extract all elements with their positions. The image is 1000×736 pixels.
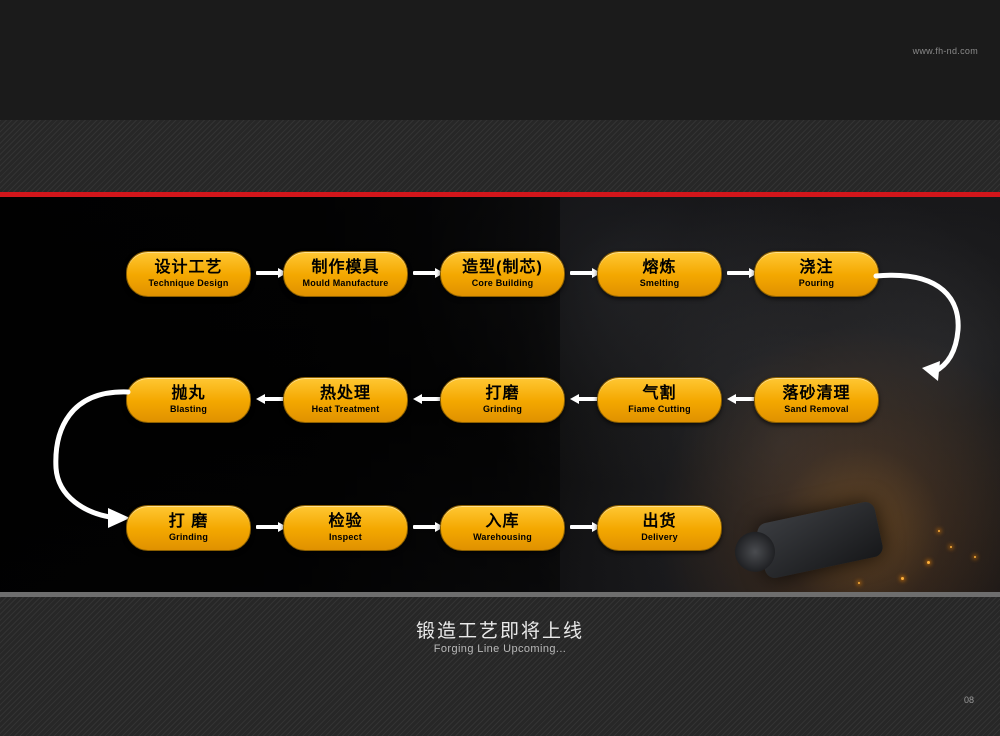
- flow-node-flame-cutting[interactable]: 气割 Fiame Cutting: [597, 377, 722, 423]
- node-label-cn: 熔炼: [642, 260, 676, 276]
- site-url: www.fh-nd.com: [913, 46, 978, 56]
- node-label-cn: 热处理: [320, 386, 371, 402]
- top-band: www.fh-nd.com: [0, 0, 1000, 120]
- spark-icon: [974, 556, 976, 558]
- node-label-cn: 检验: [328, 514, 362, 530]
- node-label-cn: 打磨: [485, 386, 519, 402]
- node-label-en: Delivery: [641, 533, 678, 542]
- spark-icon: [950, 546, 952, 548]
- node-label-cn: 出货: [642, 514, 676, 530]
- node-label-en: Fiame Cutting: [628, 405, 691, 414]
- flow-node-inspect[interactable]: 检验 Inspect: [283, 505, 408, 551]
- hatch-band-top: [0, 120, 1000, 192]
- node-label-cn: 落砂清理: [782, 386, 850, 402]
- node-label-en: Warehousing: [473, 533, 532, 542]
- flow-node-grinding-row2[interactable]: 打磨 Grinding: [440, 377, 565, 423]
- flow-node-core-building[interactable]: 造型(制芯) Core Building: [440, 251, 565, 297]
- flow-node-warehousing[interactable]: 入库 Warehousing: [440, 505, 565, 551]
- node-label-cn: 入库: [485, 514, 519, 530]
- slide: www.fh-nd.com 设计工艺 Technique Design 制作模具…: [0, 0, 1000, 736]
- node-label-en: Grinding: [169, 533, 208, 542]
- node-label-en: Mould Manufacture: [303, 279, 389, 288]
- spark-icon: [858, 582, 860, 584]
- flow-node-mould-manufacture[interactable]: 制作模具 Mould Manufacture: [283, 251, 408, 297]
- footer-title: 锻造工艺即将上线: [0, 616, 1000, 643]
- connector-curve-right: [860, 258, 980, 388]
- node-label-cn: 造型(制芯): [462, 260, 543, 276]
- node-label-cn: 制作模具: [311, 260, 379, 276]
- node-label-cn: 抛丸: [171, 386, 205, 402]
- node-label-en: Pouring: [799, 279, 834, 288]
- node-label-cn: 气割: [642, 386, 676, 402]
- node-label-en: Core Building: [472, 279, 534, 288]
- node-label-cn: 设计工艺: [154, 260, 222, 276]
- node-label-en: Sand Removal: [784, 405, 848, 414]
- node-label-cn: 浇注: [799, 260, 833, 276]
- footer-subtitle: Forging Line Upcoming...: [0, 643, 1000, 655]
- flow-node-sand-removal[interactable]: 落砂清理 Sand Removal: [754, 377, 879, 423]
- node-label-en: Blasting: [170, 405, 207, 414]
- spark-icon: [927, 561, 930, 564]
- node-label-en: Technique Design: [148, 279, 228, 288]
- node-label-en: Smelting: [640, 279, 680, 288]
- spark-icon: [938, 530, 940, 532]
- flow-node-technique-design[interactable]: 设计工艺 Technique Design: [126, 251, 251, 297]
- node-label-en: Heat Treatment: [312, 405, 380, 414]
- flow-node-delivery[interactable]: 出货 Delivery: [597, 505, 722, 551]
- page-number: 08: [964, 695, 974, 705]
- node-label-cn: 打 磨: [169, 514, 208, 530]
- flow-node-grinding-row3[interactable]: 打 磨 Grinding: [126, 505, 251, 551]
- flow-node-heat-treatment[interactable]: 热处理 Heat Treatment: [283, 377, 408, 423]
- node-label-en: Inspect: [329, 533, 362, 542]
- node-label-en: Grinding: [483, 405, 522, 414]
- spark-icon: [901, 577, 904, 580]
- flow-node-smelting[interactable]: 熔炼 Smelting: [597, 251, 722, 297]
